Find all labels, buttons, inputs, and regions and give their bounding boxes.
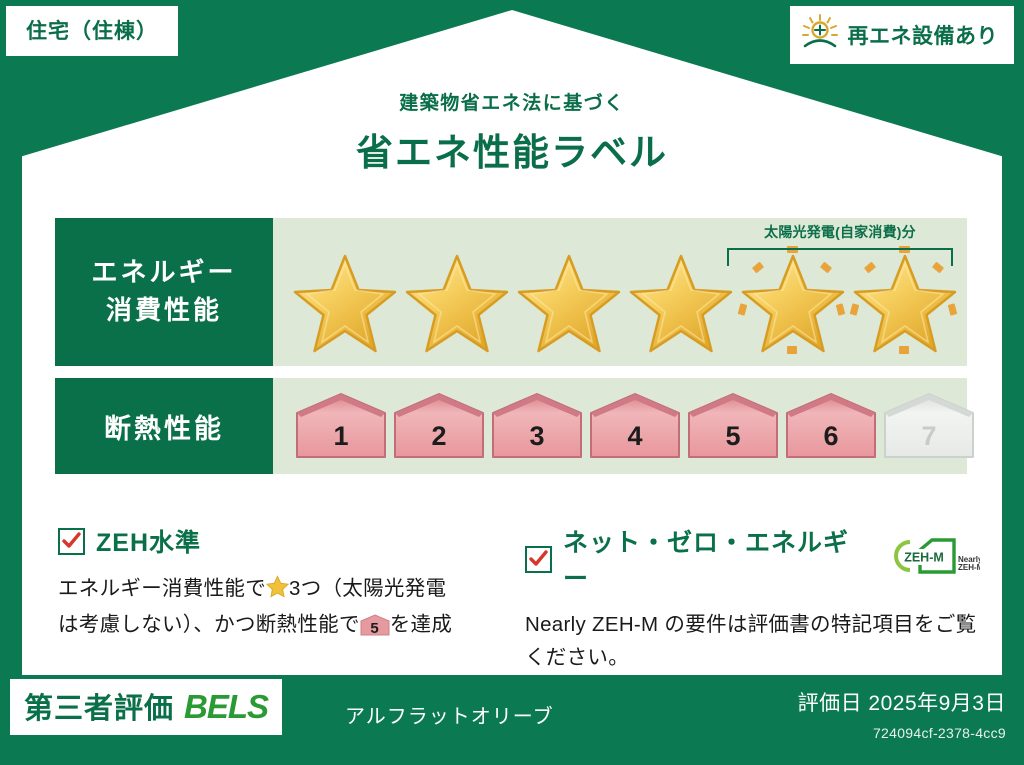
claim-zeh: ZEH水準 エネルギー消費性能で3つ（太陽光発電は考慮しない）、かつ断熱性能で5… [58,523,508,641]
solar-bracket [727,248,953,266]
badge-house-type-label: 住宅（住棟） [26,20,158,43]
row-energy-body: 太陽光発電(自家消費)分 [273,218,967,366]
claim-zeh-text-part3: は考慮しない）、かつ断熱性能で [58,613,360,636]
insulation-level-7: 7 [881,391,977,461]
star-sparkle [787,346,797,354]
checkmark-icon [58,528,85,555]
row-insulation-body: 1234567 [273,378,967,474]
row-energy-label: エネルギー 消費性能 [55,218,273,366]
evaluation-date: 評価日 2025年9月3日 [798,687,1006,717]
badge-house-type: 住宅（住棟） [6,6,178,56]
page-title: 建築物省エネ法に基づく 省エネ性能ラベル [0,88,1024,176]
claim-zeh-text-part2: 3つ（太陽光発電 [289,577,446,600]
row-energy-label-line2: 消費性能 [106,292,222,330]
claim-zeh-text: エネルギー消費性能で3つ（太陽光発電は考慮しない）、かつ断熱性能で5を達成 [58,572,508,641]
bels-jp-label: 第三者評価 [24,685,174,727]
footer: 第三者評価 BELS アルフラットオリーブ 評価日 2025年9月3日 7240… [0,675,1024,765]
insulation-level-number: 3 [489,421,585,452]
claim-zeh-m-head: ネット・ゼロ・エネルギー ZEH-M Nearly ZEH-M [525,523,980,595]
row-insulation-label: 断熱性能 [55,378,273,474]
bels-en-label: BELS [184,688,268,726]
insulation-level-2: 2 [391,391,487,461]
insulation-level-5: 5 [685,391,781,461]
insulation-level-number: 5 [685,421,781,452]
inline-house-icon: 5 [360,613,390,635]
claim-zeh-m: ネット・ゼロ・エネルギー ZEH-M Nearly ZEH-M Nearly Z… [525,523,980,674]
inline-star-icon [266,575,289,608]
insulation-level-4: 4 [587,391,683,461]
solar-sun-icon [800,13,840,56]
star-4 [627,250,735,358]
claim-zeh-title: ZEH水準 [96,523,201,559]
evaluation-id: 724094cf-2378-4cc9 [873,725,1006,741]
star-6 [851,250,959,358]
row-insulation-label-text: 断熱性能 [104,407,224,446]
badge-renewable-equipment: 再エネ設備あり [790,6,1015,64]
insulation-level-3: 3 [489,391,585,461]
bels-badge: 第三者評価 BELS [10,679,282,735]
claim-zeh-text-part1: エネルギー消費性能で [58,577,266,600]
zeh-m-logo-icon: ZEH-M Nearly ZEH-M [880,536,980,583]
insulation-level-number: 1 [293,421,389,452]
insulation-level-number: 2 [391,421,487,452]
claim-zeh-m-text: Nearly ZEH-M の要件は評価書の特記項目をご覧ください。 [525,608,980,674]
insulation-scale: 1234567 [273,391,967,461]
insulation-level-number: 4 [587,421,683,452]
solar-bracket-label: 太陽光発電(自家消費)分 [727,222,953,242]
building-name: アルフラットオリーブ [345,700,554,729]
insulation-level-6: 6 [783,391,879,461]
star-rating [273,250,967,358]
row-insulation-performance: 断熱性能 1234567 [55,378,967,474]
star-3 [515,250,623,358]
svg-text:ZEH-M: ZEH-M [904,550,944,564]
insulation-level-number: 6 [783,421,879,452]
checkmark-icon [525,546,552,573]
row-energy-label-line1: エネルギー [91,254,236,292]
claim-zeh-head: ZEH水準 [58,523,508,559]
inline-house-value: 5 [360,617,390,641]
svg-text:ZEH-M: ZEH-M [958,563,980,572]
title-subtitle: 建築物省エネ法に基づく [0,88,1024,115]
claim-zeh-text-part4: を達成 [390,613,452,636]
title-main: 省エネ性能ラベル [0,122,1024,176]
star-2 [403,250,511,358]
badge-renewable-label: 再エネ設備あり [848,20,999,50]
star-1 [291,250,399,358]
row-energy-performance: エネルギー 消費性能 太陽光発電(自家消費)分 [55,218,967,366]
star-sparkle [899,346,909,354]
insulation-level-1: 1 [293,391,389,461]
claim-zeh-m-title: ネット・ゼロ・エネルギー [563,523,863,595]
insulation-level-number: 7 [881,421,977,452]
star-5 [739,250,847,358]
